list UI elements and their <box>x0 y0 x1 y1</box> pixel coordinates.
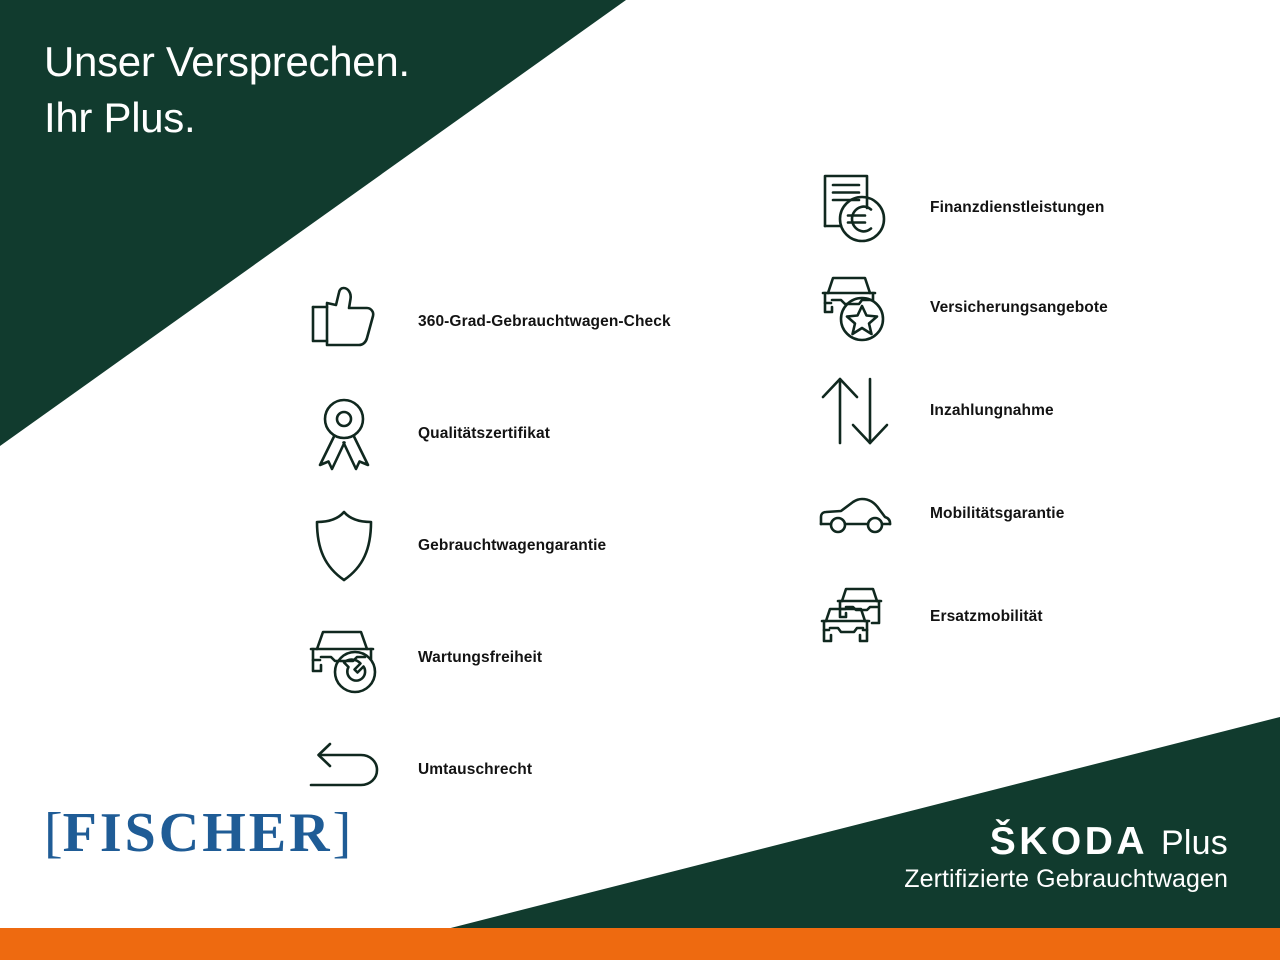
orange-accent-bar <box>0 928 1280 960</box>
feature-item-maintenance-free: Wartungsfreiheit <box>296 602 726 714</box>
logo-bracket-open: [ <box>44 802 63 864</box>
brand-logo-skoda-plus: ŠKODA Plus Zertifizierte Gebrauchtwagen <box>904 822 1228 894</box>
feature-label: Finanzdienstleistungen <box>930 199 1104 217</box>
thumbs-up-icon <box>296 274 392 370</box>
feature-item-360-check: 360-Grad-Gebrauchtwagen-Check <box>296 266 726 378</box>
page-title: Unser Versprechen. Ihr Plus. <box>44 34 410 146</box>
document-euro-icon <box>812 165 898 251</box>
award-ribbon-icon <box>296 386 392 482</box>
feature-item-replacement-mobility: Ersatzmobilität <box>812 564 1192 670</box>
feature-list-left: 360-Grad-Gebrauchtwagen-Check Qualitätsz… <box>296 266 726 826</box>
feature-item-exchange-right: Umtauschrecht <box>296 714 726 826</box>
logo-name: FISCHER <box>63 802 333 864</box>
feature-item-mobility-guarantee: Mobilitätsgarantie <box>812 464 1192 564</box>
feature-label: Inzahlungnahme <box>930 402 1054 420</box>
car-star-icon <box>812 265 898 351</box>
shield-icon <box>296 498 392 594</box>
logo-bracket-close: ] <box>333 802 352 864</box>
feature-label: Mobilitätsgarantie <box>930 505 1064 523</box>
brand-subtitle: Zertifizierte Gebrauchtwagen <box>904 865 1228 894</box>
feature-item-trade-in: Inzahlungnahme <box>812 358 1192 464</box>
feature-item-used-car-warranty: Gebrauchtwagengarantie <box>296 490 726 602</box>
feature-item-financial-services: Finanzdienstleistungen <box>812 158 1192 258</box>
feature-list-right: Finanzdienstleistungen Versicherungsange… <box>812 158 1192 670</box>
feature-label: Qualitätszertifikat <box>418 425 550 443</box>
feature-item-insurance-offers: Versicherungsangebote <box>812 258 1192 358</box>
skoda-plus-label: Plus <box>1161 826 1228 862</box>
two-cars-icon <box>812 574 898 660</box>
feature-label: Wartungsfreiheit <box>418 649 542 667</box>
feature-label: Versicherungsangebote <box>930 299 1108 317</box>
feature-label: Umtauschrecht <box>418 761 532 779</box>
car-side-icon <box>812 471 898 557</box>
feature-label: Gebrauchtwagengarantie <box>418 537 606 555</box>
skoda-wordmark: ŠKODA <box>990 822 1148 863</box>
car-wrench-icon <box>296 610 392 706</box>
brand-wordmark-line: ŠKODA Plus <box>904 822 1228 863</box>
feature-label: Ersatzmobilität <box>930 608 1043 626</box>
feature-item-quality-certificate: Qualitätszertifikat <box>296 378 726 490</box>
promo-banner: Unser Versprechen. Ihr Plus. 360-Grad-Ge… <box>0 0 1280 960</box>
feature-label: 360-Grad-Gebrauchtwagen-Check <box>418 313 671 331</box>
up-down-arrows-icon <box>812 368 898 454</box>
dealer-logo-fischer: [FISCHER] <box>44 805 351 861</box>
